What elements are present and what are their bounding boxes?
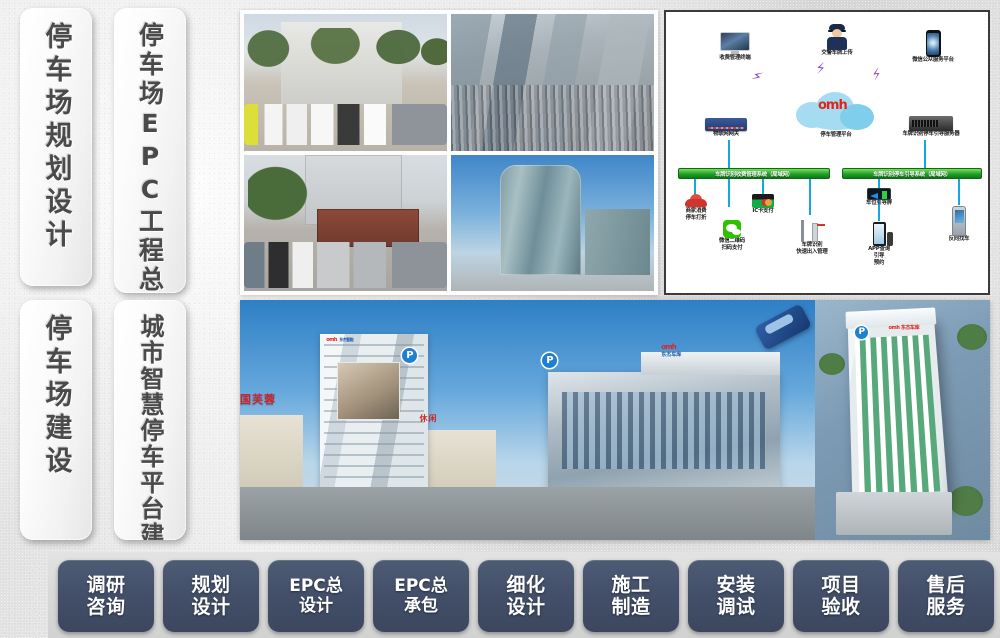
diagram-leaf-space-guidance-screen: 车位引导屏 bbox=[852, 188, 906, 207]
diagram-leaf-app-query-guidance-booking: APP查询 引导 预约 bbox=[856, 222, 902, 266]
process-step-research-consulting[interactable]: 调研 咨询 bbox=[58, 560, 154, 632]
process-step-line2: 设计 bbox=[299, 596, 333, 616]
diagram-node-charging-management-terminal: 收费管理终端 bbox=[700, 32, 770, 62]
link-line bbox=[694, 179, 696, 195]
omh-brand-logo: omh bbox=[818, 98, 904, 113]
process-step-epc-general-contracting[interactable]: EPC总 承包 bbox=[373, 560, 469, 632]
led-sign-icon bbox=[867, 188, 891, 200]
diagram-leaf-merchant-discount: 商家消费 停车打折 bbox=[674, 194, 718, 222]
gateway-icon bbox=[705, 118, 747, 131]
omh-brand-logo: omh 东杰智能 bbox=[326, 337, 353, 343]
photo-surface-lot-with-trees bbox=[244, 14, 447, 151]
process-step-line1: EPC总 bbox=[289, 576, 343, 596]
service-category-sidebar: 停车场规划设计 停车场EPC工程总承包 停车场建设 城市智慧停车平台建设 bbox=[0, 0, 228, 552]
diagram-node-wechat-public-service-platform: 微信公众服务平台 bbox=[888, 30, 978, 64]
server-icon bbox=[909, 116, 953, 131]
kiosk-icon bbox=[952, 206, 966, 236]
entry-plaza bbox=[836, 492, 952, 535]
diagram-node-iot-gateway: 物联网网关 bbox=[686, 118, 766, 138]
process-step-detailed-design[interactable]: 细化 设计 bbox=[478, 560, 574, 632]
sidebar-card-label: 停车场EPC工程总承包 bbox=[138, 22, 163, 293]
tree-cluster bbox=[957, 324, 987, 350]
process-step-line1: EPC总 bbox=[394, 576, 448, 596]
sidebar-card-label: 城市智慧停车平台建设 bbox=[138, 314, 162, 540]
process-step-line2: 设计 bbox=[506, 596, 545, 618]
mobile-app-icon bbox=[873, 222, 886, 246]
process-step-project-acceptance[interactable]: 项目 验收 bbox=[793, 560, 889, 632]
red-car-icon bbox=[685, 194, 707, 208]
parked-cars-row bbox=[244, 104, 447, 145]
lightning-connector-icon: ⚡ bbox=[750, 69, 765, 86]
cloud-platform-icon: omh bbox=[794, 90, 880, 130]
wechat-icon bbox=[723, 220, 741, 238]
sidebar-card-parking-construction[interactable]: 停车场建设 bbox=[20, 300, 92, 540]
process-step-line1: 施工 bbox=[611, 574, 650, 596]
sidebar-card-parking-planning-design[interactable]: 停车场规划设计 bbox=[20, 8, 92, 286]
process-step-line1: 项目 bbox=[821, 574, 860, 596]
process-step-construction-manufacturing[interactable]: 施工 制造 bbox=[583, 560, 679, 632]
smart-parking-architecture-diagram: ⚡ ⚡ ⚡ 收费管理终端 交警车牌上传 微信公众服务平台 物联网网关 车牌识别停… bbox=[664, 10, 990, 295]
glass-curtain-wall bbox=[562, 392, 766, 469]
tree-cluster bbox=[819, 353, 845, 375]
photo-aerial-city-parking bbox=[451, 14, 654, 151]
photo-lot-brick-building bbox=[244, 155, 447, 292]
link-line bbox=[762, 179, 764, 195]
process-step-installation-commissioning[interactable]: 安装 调试 bbox=[688, 560, 784, 632]
project-photo-grid bbox=[240, 10, 658, 295]
omh-brand-logo: omh东杰车库 bbox=[661, 343, 681, 358]
system-bar-plate-guidance-system: 车牌识别停车引导系统（局域网） bbox=[842, 168, 982, 179]
parking-slot-grid bbox=[855, 335, 940, 496]
barrier-gate-icon bbox=[799, 218, 825, 242]
lightning-connector-icon: ⚡ bbox=[870, 67, 884, 84]
process-step-line2: 承包 bbox=[404, 596, 438, 616]
sidebar-card-label: 停车场规划设计 bbox=[43, 22, 70, 253]
diagram-node-traffic-police-plate-upload: 交警车牌上传 bbox=[794, 24, 880, 57]
adjacent-low-building bbox=[240, 415, 303, 497]
police-officer-icon bbox=[826, 24, 848, 50]
sidebar-card-label: 停车场建设 bbox=[43, 314, 70, 479]
process-step-line1: 调研 bbox=[86, 574, 125, 596]
architectural-render-panel: omh 东杰智能 P 国芙蓉 休闲 omh东杰车库 P P omh 东杰车库 bbox=[240, 300, 990, 540]
diagram-leaf-ic-card-payment: IC卡支付 bbox=[740, 194, 786, 215]
sign-text-left: 国芙蓉 bbox=[240, 391, 276, 407]
omh-brand-logo: omh 东杰车库 bbox=[889, 324, 920, 331]
process-step-after-sales-service[interactable]: 售后 服务 bbox=[898, 560, 994, 632]
tree-foliage bbox=[248, 165, 309, 228]
street-ground bbox=[525, 487, 815, 540]
diagram-leaf-plate-fast-entry-exit: 车牌识别 快速出入管理 bbox=[784, 218, 840, 256]
diagram-leaf-wechat-qr-payment: 微信二维码 扫码支付 bbox=[706, 220, 758, 252]
process-step-line2: 制造 bbox=[611, 596, 650, 618]
process-step-line2: 调试 bbox=[716, 596, 755, 618]
sidebar-card-parking-epc-contracting[interactable]: 停车场EPC工程总承包 bbox=[114, 8, 186, 293]
process-step-line1: 安装 bbox=[716, 574, 755, 596]
diagram-leaf-reverse-car-finding: 反向找车 bbox=[936, 206, 982, 243]
photo-glass-office-tower bbox=[451, 155, 654, 292]
render-garage-tower: omh 东杰智能 P 国芙蓉 休闲 bbox=[240, 300, 525, 540]
facade-billboard bbox=[337, 362, 400, 420]
process-step-line1: 细化 bbox=[506, 574, 545, 596]
process-step-planning-design[interactable]: 规划 设计 bbox=[163, 560, 259, 632]
smartphone-icon bbox=[926, 30, 941, 57]
link-line bbox=[809, 179, 811, 215]
tree-cluster bbox=[949, 486, 983, 516]
cloud-platform-label: 停车管理平台 bbox=[786, 132, 886, 139]
bank-card-icon bbox=[752, 194, 774, 208]
sign-text-right: 休闲 bbox=[420, 413, 438, 424]
process-step-line2: 设计 bbox=[191, 596, 230, 618]
render-garage-podium: omh东杰车库 P bbox=[525, 300, 815, 540]
lightning-connector-icon: ⚡ bbox=[815, 61, 827, 76]
link-line bbox=[728, 179, 730, 207]
street-ground bbox=[240, 487, 525, 540]
process-step-line2: 服务 bbox=[926, 596, 965, 618]
link-line bbox=[958, 179, 960, 205]
process-step-line2: 验收 bbox=[821, 596, 860, 618]
process-step-line1: 规划 bbox=[191, 574, 230, 596]
render-aerial-tower: P omh 东杰车库 bbox=[815, 300, 990, 540]
parked-cars-row bbox=[244, 242, 447, 288]
process-step-epc-overall-design[interactable]: EPC总 设计 bbox=[268, 560, 364, 632]
link-line bbox=[924, 140, 926, 168]
project-process-bar: 调研 咨询 规划 设计 EPC总 设计 EPC总 承包 细化 设计 施工 制造 … bbox=[58, 560, 994, 632]
aerial-parking-tower bbox=[848, 318, 949, 509]
garage-podium-building bbox=[548, 372, 780, 497]
system-bar-plate-charging-system: 车牌识别收费管理系统（局域网） bbox=[678, 168, 830, 179]
monitor-icon bbox=[720, 32, 750, 54]
diagram-node-plate-recognition-guidance-server: 车牌识别停车引导服务器 bbox=[878, 116, 984, 138]
link-line bbox=[728, 140, 730, 168]
process-step-line2: 咨询 bbox=[86, 596, 125, 618]
process-step-line1: 售后 bbox=[926, 574, 965, 596]
sidebar-card-smart-city-parking-platform[interactable]: 城市智慧停车平台建设 bbox=[114, 300, 186, 540]
